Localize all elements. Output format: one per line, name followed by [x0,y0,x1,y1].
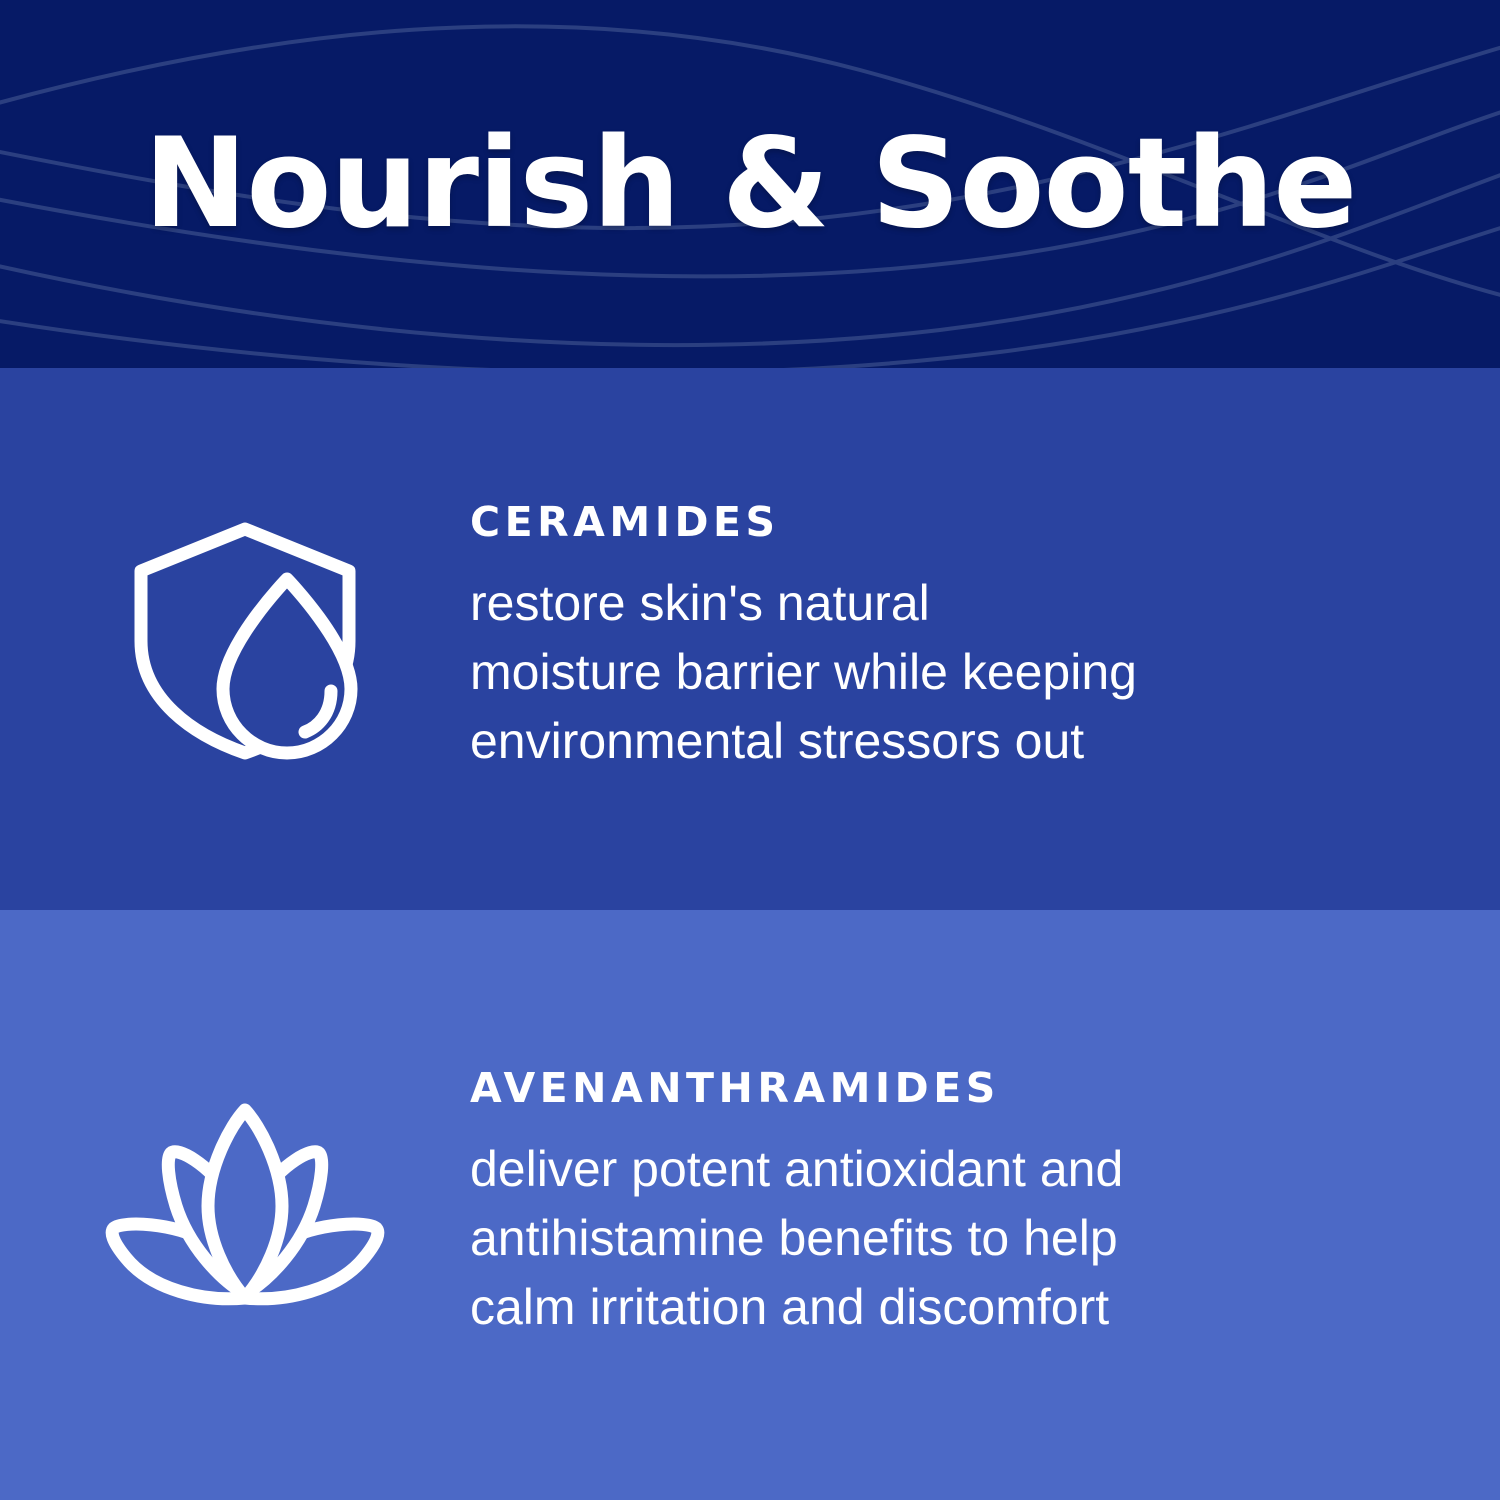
avenanthramides-text-block: AVENANTHRAMIDES deliver potent antioxida… [470,1068,1500,1342]
ceramides-body-line-3: environmental stressors out [470,707,1250,776]
avenanthramides-heading: AVENANTHRAMIDES [470,1068,1360,1109]
avenanthramides-icon-wrap [0,1098,470,1313]
ceramides-heading: CERAMIDES [470,502,1360,543]
header-banner: Nourish & Soothe [0,0,1500,368]
ceramides-text-block: CERAMIDES restore skin's natural moistur… [470,502,1500,776]
avenanthramides-body-line-2: antihistamine benefits to help [470,1204,1250,1273]
ceramides-body-line-1: restore skin's natural [470,569,1250,638]
ceramides-icon-wrap [0,513,470,765]
avenanthramides-body-line-1: deliver potent antioxidant and [470,1135,1250,1204]
avenanthramides-body: deliver potent antioxidant and antihista… [470,1135,1250,1342]
ceramides-body: restore skin's natural moisture barrier … [470,569,1250,776]
page-title: Nourish & Soothe [0,0,1500,368]
shield-droplet-icon [119,513,371,765]
lotus-flower-icon [100,1098,390,1313]
ceramides-body-line-2: moisture barrier while keeping [470,638,1250,707]
infographic-canvas: Nourish & Soothe CERAMIDES restore skin'… [0,0,1500,1500]
feature-panel-ceramides: CERAMIDES restore skin's natural moistur… [0,368,1500,910]
feature-panel-avenanthramides: AVENANTHRAMIDES deliver potent antioxida… [0,910,1500,1500]
avenanthramides-body-line-3: calm irritation and discomfort [470,1273,1250,1342]
